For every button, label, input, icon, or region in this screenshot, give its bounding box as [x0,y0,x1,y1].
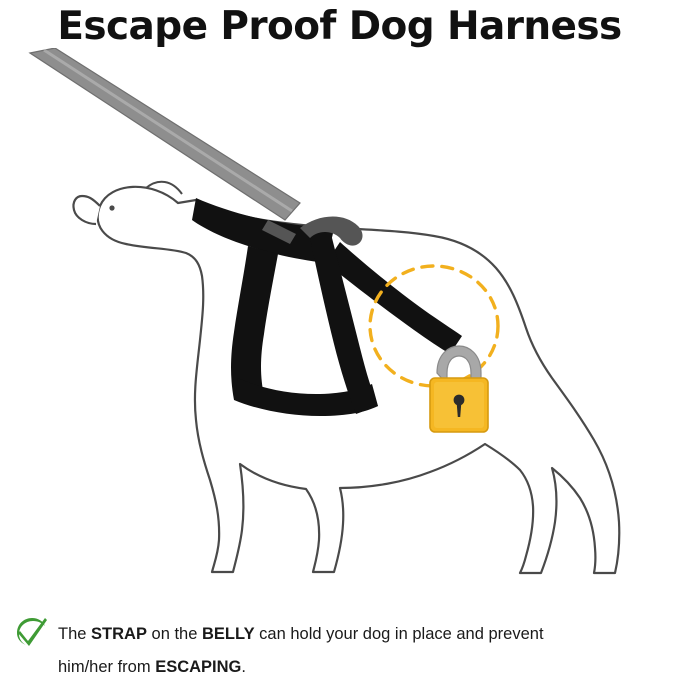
product-feature-infographic: Escape Proof Dog Harness [0,0,679,691]
caption-text-part: The [58,625,91,643]
dog-harness-illustration [0,48,679,593]
caption-text: The STRAP on the BELLY can hold your dog… [58,618,670,684]
green-check-icon [14,616,48,650]
caption-text-part: him/her from [58,658,155,676]
caption-strong-belly: BELLY [202,625,255,643]
caption-line-2: him/her from ESCAPING. [58,651,670,684]
caption-text-part: on the [147,625,202,643]
caption-block: The STRAP on the BELLY can hold your dog… [0,604,679,684]
caption-text-part: . [241,658,246,676]
caption-strong-strap: STRAP [91,625,147,643]
caption-text-part: can hold your dog in place and prevent [255,625,544,643]
page-title: Escape Proof Dog Harness [0,4,679,49]
caption-line-1: The STRAP on the BELLY can hold your dog… [58,618,670,651]
caption-strong-escaping: ESCAPING [155,658,241,676]
